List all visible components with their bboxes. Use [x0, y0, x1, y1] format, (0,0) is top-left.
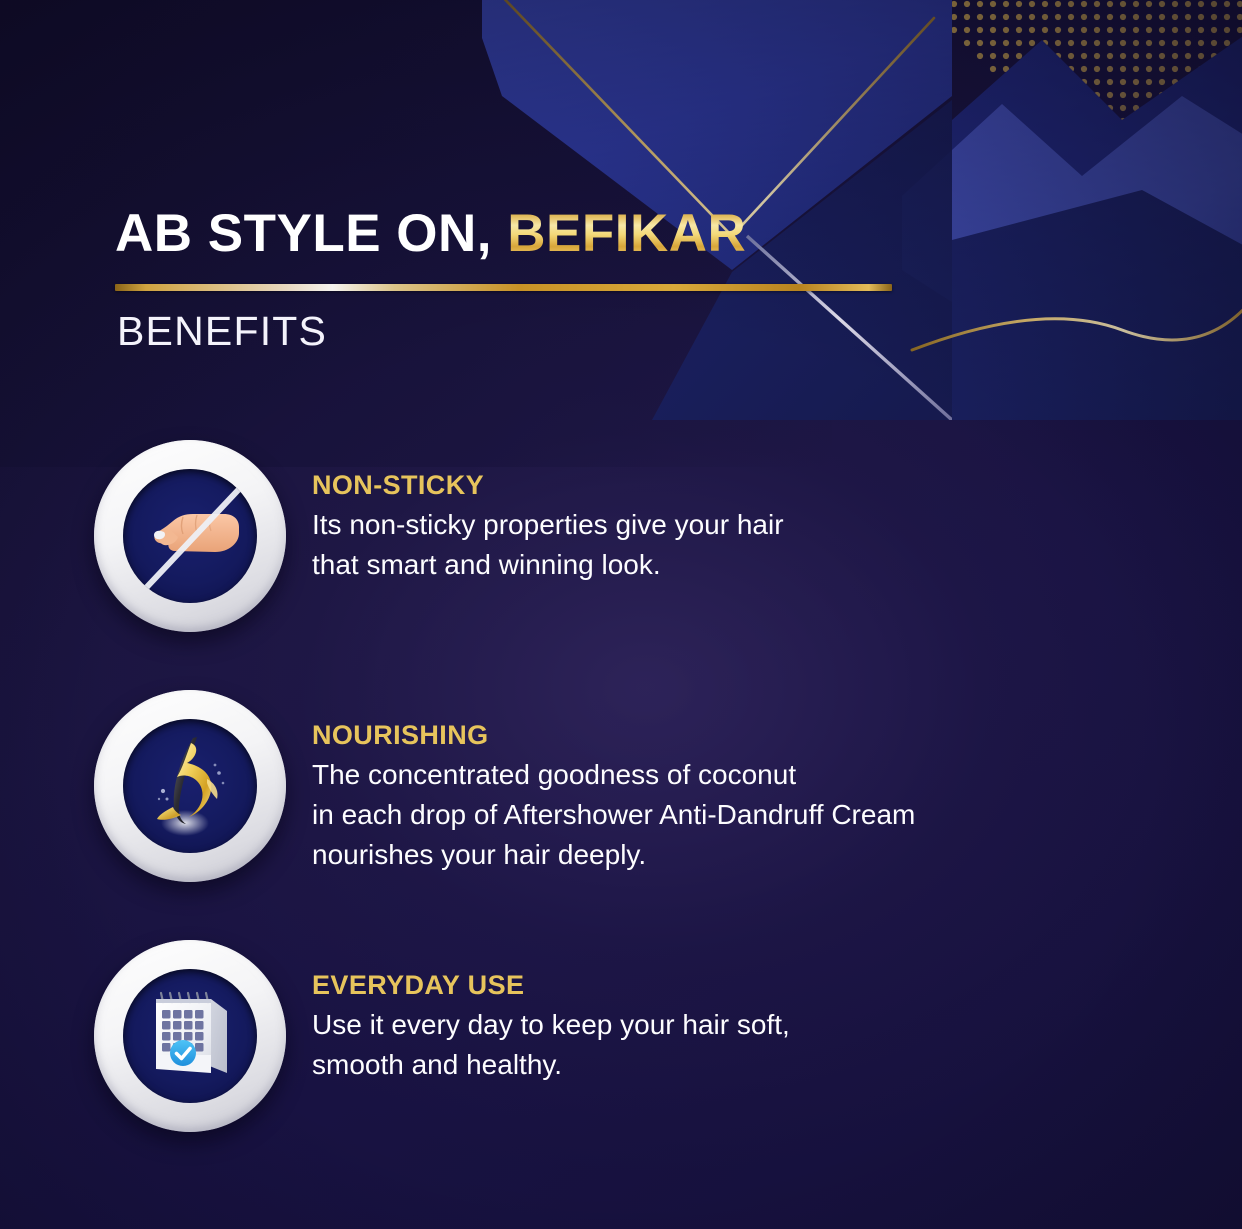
benefit-title: NOURISHING: [312, 721, 915, 750]
benefit-description: Use it every day to keep your hair soft,…: [312, 1005, 790, 1085]
benefit-text-block: EVERYDAY USE Use it every day to keep yo…: [312, 940, 790, 1085]
headline-white-part: AB STYLE ON,: [115, 204, 492, 263]
headline-gold-part: BEFIKAR: [507, 204, 746, 263]
benefit-badge: [94, 940, 286, 1132]
benefit-title: EVERYDAY USE: [312, 971, 790, 1000]
benefit-badge: [94, 690, 286, 882]
list-item: NOURISHING The concentrated goodness of …: [0, 690, 1242, 882]
non-sticky-hand-icon: [123, 469, 257, 603]
benefit-badge: [94, 440, 286, 632]
nourishing-oil-hair-icon: [123, 719, 257, 853]
benefit-description: Its non-sticky properties give your hair…: [312, 505, 784, 585]
page-title: AB STYLE ON, BEFIKAR: [115, 206, 955, 262]
benefits-poster: AB STYLE ON, BEFIKAR BENEFITS: [0, 0, 1242, 1229]
everyday-use-calendar-icon: [123, 969, 257, 1103]
benefit-text-block: NON-STICKY Its non-sticky properties giv…: [312, 440, 784, 585]
list-item: EVERYDAY USE Use it every day to keep yo…: [0, 940, 1242, 1132]
benefit-text-block: NOURISHING The concentrated goodness of …: [312, 690, 915, 874]
list-item: NON-STICKY Its non-sticky properties giv…: [0, 440, 1242, 632]
poster-header: AB STYLE ON, BEFIKAR BENEFITS: [115, 206, 955, 352]
gold-divider: [115, 284, 892, 291]
benefit-title: NON-STICKY: [312, 471, 784, 500]
section-subtitle: BENEFITS: [117, 311, 955, 352]
benefit-description: The concentrated goodness of coconut in …: [312, 755, 915, 874]
benefits-list: NON-STICKY Its non-sticky properties giv…: [0, 440, 1242, 1132]
